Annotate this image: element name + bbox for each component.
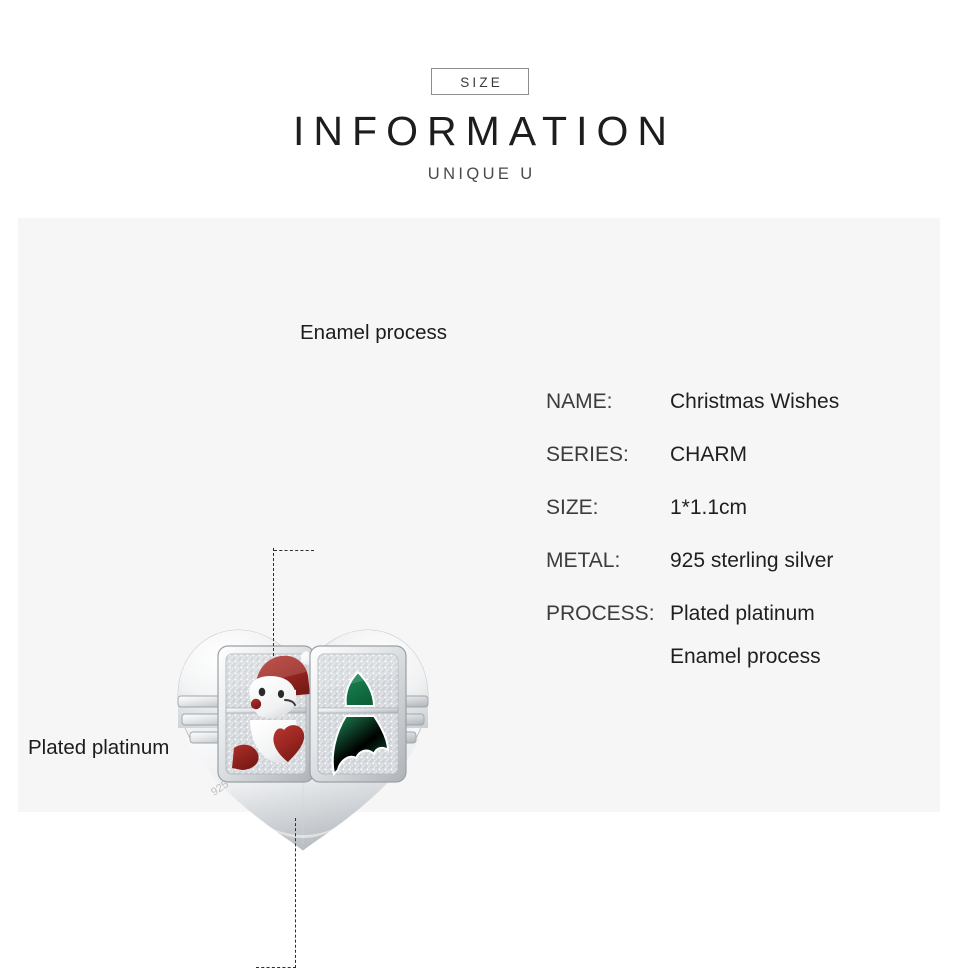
spec-label: NAME: (546, 388, 613, 416)
spec-value: Christmas Wishes (670, 388, 839, 416)
spec-value: Plated platinum (670, 600, 815, 628)
heart-charm: 925 (138, 588, 468, 858)
spec-row-metal: METAL: 925 sterling silver (546, 547, 936, 600)
spec-row-name: NAME: Christmas Wishes (546, 388, 936, 441)
callout-plated-platinum: Plated platinum (28, 735, 169, 761)
spec-value-secondary: Enamel process (670, 643, 960, 671)
spec-value: 925 sterling silver (670, 547, 833, 575)
spec-label: METAL: (546, 547, 620, 575)
specification-list: NAME: Christmas Wishes SERIES: CHARM SIZ… (546, 388, 936, 706)
spec-label: PROCESS: (546, 600, 655, 628)
page-title: INFORMATION (0, 106, 960, 156)
spec-label: SERIES: (546, 441, 629, 469)
spec-row-series: SERIES: CHARM (546, 441, 936, 494)
spec-value: CHARM (670, 441, 747, 469)
callout-top-leader-horizontal (274, 550, 314, 551)
spec-row-size: SIZE: 1*1.1cm (546, 494, 936, 547)
panel-santa (218, 646, 315, 782)
page-header: SIZE INFORMATION UNIQUE U (0, 0, 960, 218)
panel-tree (310, 646, 406, 782)
information-panel: 925 NAME: Christmas Wishes SERIES: CHARM… (18, 218, 940, 812)
spec-value: 1*1.1cm (670, 494, 747, 522)
page-subtitle: UNIQUE U (0, 163, 960, 185)
callout-enamel-process: Enamel process (300, 320, 447, 346)
size-badge: SIZE (431, 68, 529, 95)
spec-row-process-extra: Enamel process (546, 653, 936, 706)
spec-label: SIZE: (546, 494, 599, 522)
product-image: 925 (138, 588, 468, 918)
